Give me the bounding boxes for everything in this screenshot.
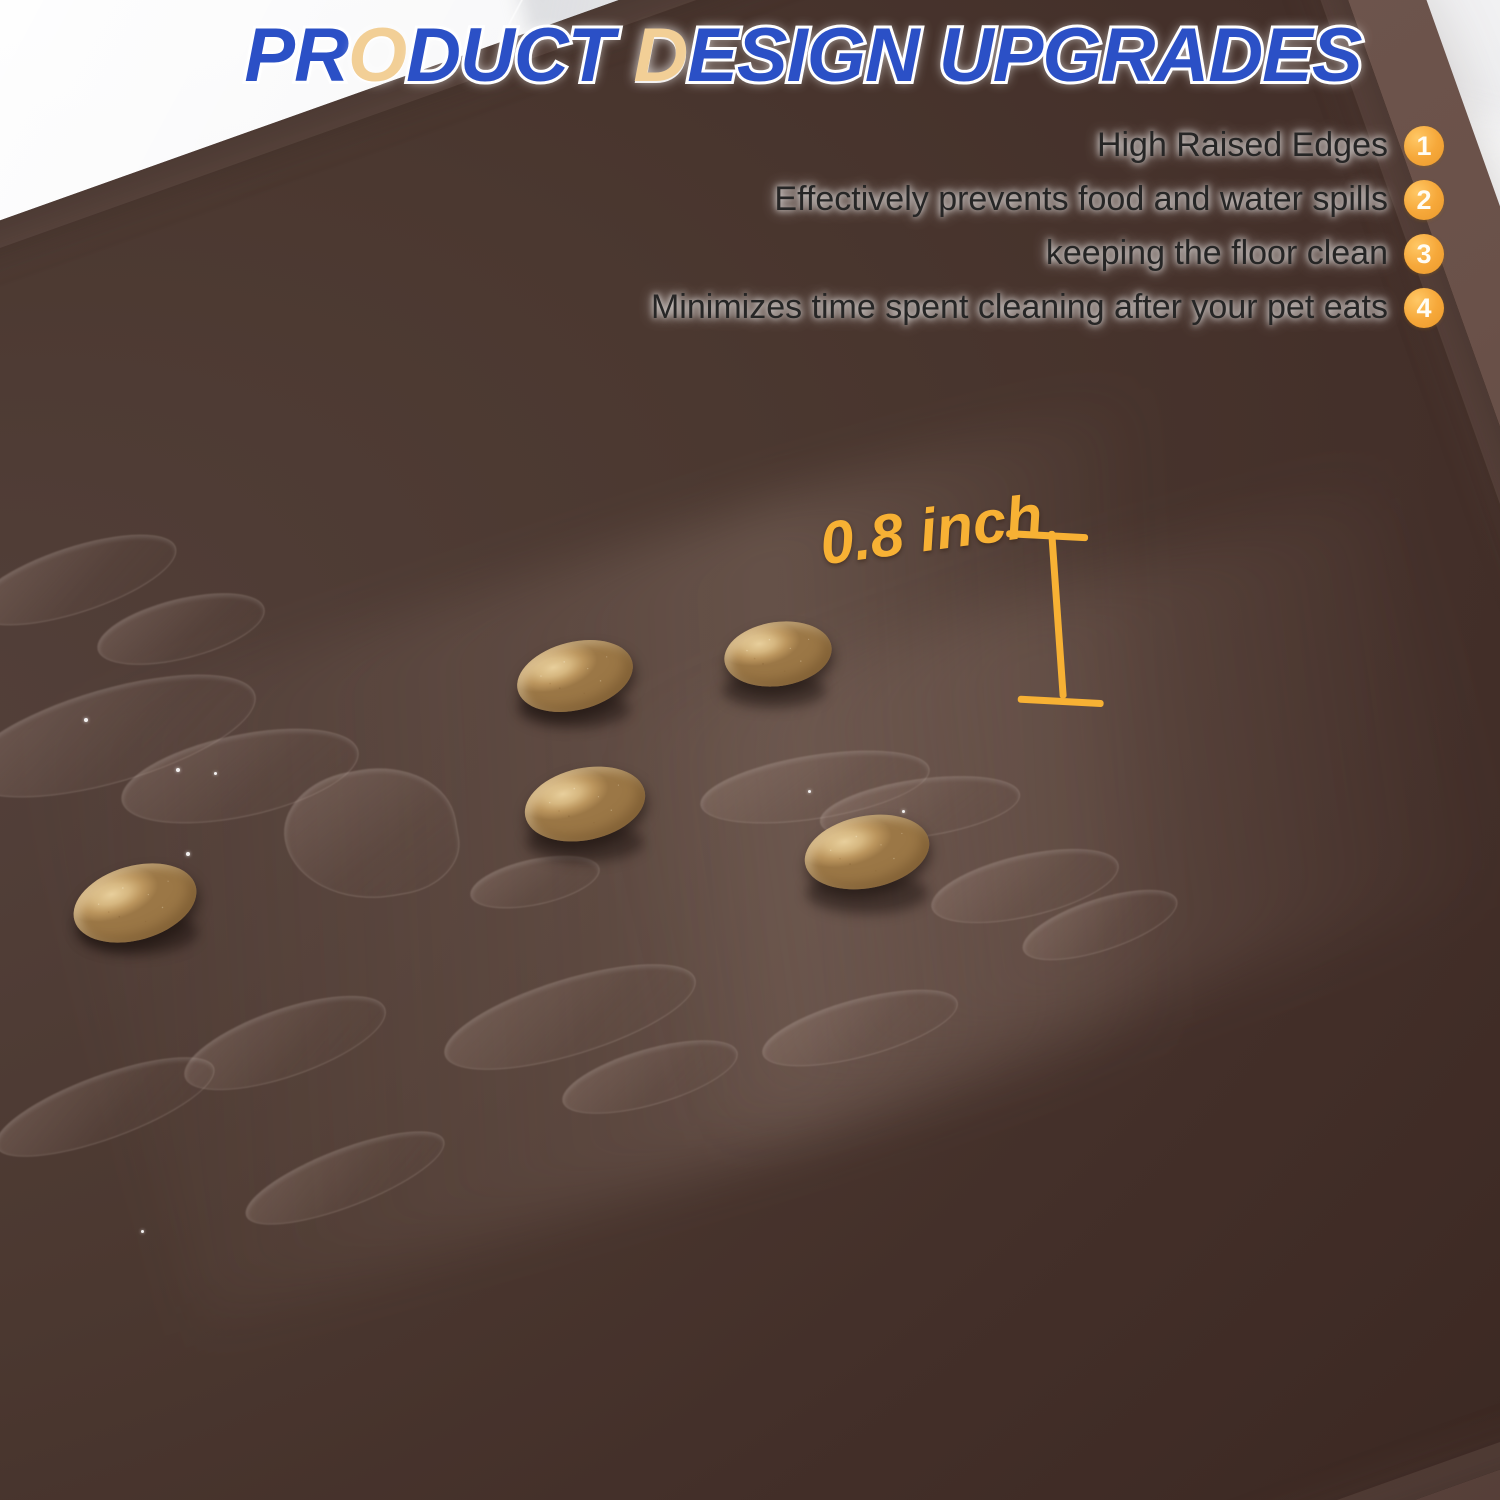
title-part-1: PR bbox=[244, 13, 348, 98]
title-accent-d: D bbox=[633, 13, 687, 98]
water-highlight bbox=[186, 852, 190, 856]
feature-item: Minimizes time spent cleaning after your… bbox=[464, 288, 1444, 328]
feature-item: High Raised Edges 1 bbox=[464, 126, 1444, 166]
title-part-3: ESIGN UPGRADES bbox=[687, 13, 1361, 98]
product-marketing-image: PRODUCT DESIGN UPGRADES High Raised Edge… bbox=[0, 0, 1500, 1500]
dimension-line-icon bbox=[1006, 516, 1129, 713]
feature-text: keeping the floor clean bbox=[1046, 234, 1388, 273]
feature-number-badge: 1 bbox=[1404, 126, 1444, 166]
title-part-2: DUCT bbox=[406, 13, 633, 98]
water-highlight bbox=[141, 1230, 144, 1233]
feature-number-badge: 2 bbox=[1404, 180, 1444, 220]
page-title: PRODUCT DESIGN UPGRADES bbox=[118, 18, 1488, 94]
feature-item: Effectively prevents food and water spil… bbox=[464, 180, 1444, 220]
feature-item: keeping the floor clean 3 bbox=[464, 234, 1444, 274]
dimension-vertical-bar bbox=[1048, 531, 1067, 699]
water-highlight bbox=[902, 810, 905, 813]
feature-text: Effectively prevents food and water spil… bbox=[774, 180, 1388, 219]
feature-number-badge: 3 bbox=[1404, 234, 1444, 274]
water-highlight bbox=[84, 718, 88, 722]
feature-text: Minimizes time spent cleaning after your… bbox=[651, 288, 1388, 327]
title-accent-o: O bbox=[348, 13, 406, 98]
water-highlight bbox=[176, 768, 180, 772]
feature-number-badge: 4 bbox=[1404, 288, 1444, 328]
dimension-cap-bottom bbox=[1018, 696, 1104, 707]
water-highlight bbox=[214, 772, 217, 775]
feature-text: High Raised Edges bbox=[1097, 126, 1388, 165]
feature-list: High Raised Edges 1 Effectively prevents… bbox=[464, 126, 1444, 342]
dimension-cap-top bbox=[1006, 530, 1088, 541]
water-highlight bbox=[808, 790, 811, 793]
